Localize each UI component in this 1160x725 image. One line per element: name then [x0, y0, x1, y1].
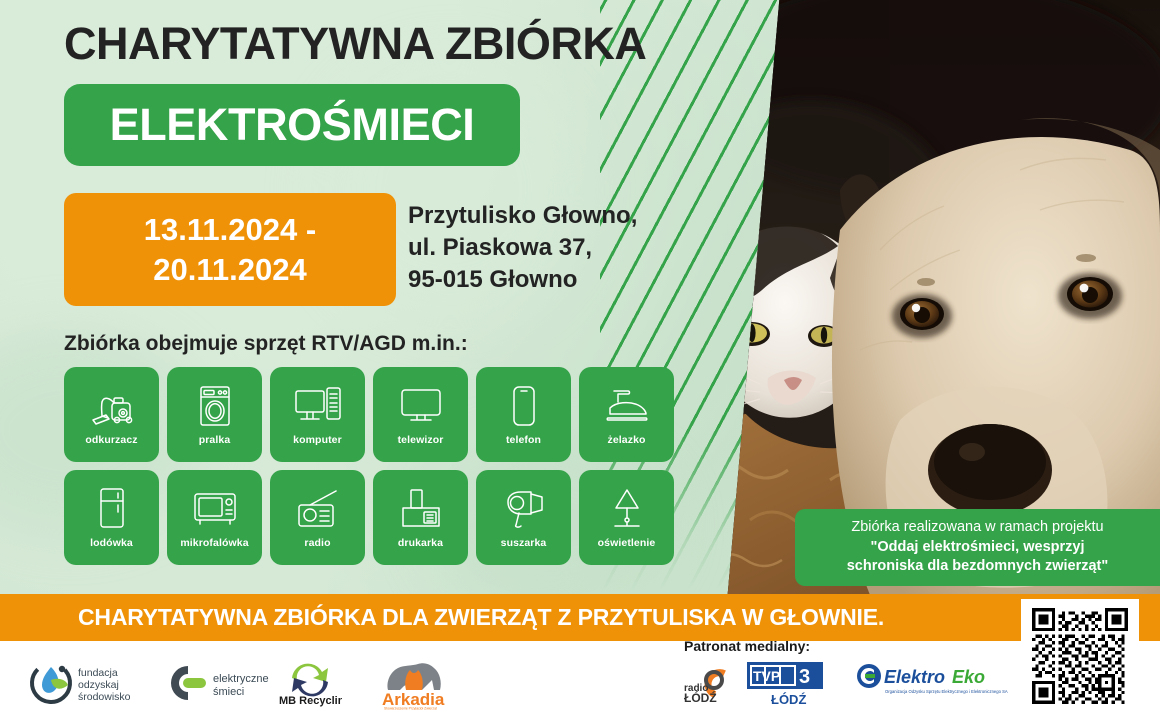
- bottom-banner: CHARYTATYWNA ZBIÓRKA DLA ZWIERZĄT Z PRZY…: [0, 594, 1160, 641]
- date-range-box: 13.11.2024 - 20.11.2024: [64, 193, 396, 306]
- equipment-label: odkurzacz: [85, 434, 137, 446]
- svg-text:Stowarzyszenie Przyjaciół Zwie: Stowarzyszenie Przyjaciół Zwierząt: [384, 707, 437, 711]
- equipment-label: mikrofalówka: [180, 537, 248, 549]
- patronat-medialny-label: Patronat medialny:: [684, 638, 810, 654]
- equipment-label: komputer: [293, 434, 342, 446]
- equipment-label: pralka: [199, 434, 231, 446]
- elektryczne-smieci-logo: elektryczne śmieci: [157, 660, 277, 706]
- project-note-line-3: schroniska dla bezdomnych zwierząt": [805, 557, 1150, 577]
- equipment-tile-lodowka: lodówka: [64, 470, 159, 565]
- svg-text:3: 3: [799, 666, 810, 688]
- washing-machine-icon: [197, 383, 233, 429]
- equipment-tile-suszarka: suszarka: [476, 470, 571, 565]
- svg-text:fundacja: fundacja: [78, 667, 118, 679]
- equipment-grid: odkurzacz pralka: [64, 367, 674, 565]
- vacuum-cleaner-icon: [90, 383, 134, 429]
- hairdryer-icon: [502, 486, 546, 532]
- radio-icon: [296, 486, 340, 532]
- equipment-subtitle: Zbiórka obejmuje sprzęt RTV/AGD m.in.:: [64, 332, 468, 356]
- elektroeko-logo: Elektro Eko Organizacja Odzysku Sprzętu …: [856, 662, 1016, 698]
- svg-text:elektryczne: elektryczne: [213, 673, 269, 685]
- radio-lodz-logo: radio ŁÓDŹ: [684, 663, 746, 705]
- bottom-banner-text: CHARYTATYWNA ZBIÓRKA DLA ZWIERZĄT Z PRZY…: [78, 604, 884, 631]
- equipment-tile-oswietlenie: oświetlenie: [579, 470, 674, 565]
- equipment-tile-pralka: pralka: [167, 367, 262, 462]
- fridge-icon: [98, 486, 126, 532]
- address-line-1: Przytulisko Głowno,: [408, 200, 637, 232]
- date-range-line-1: 13.11.2024 -: [144, 210, 316, 250]
- svg-text:odzyskaj: odzyskaj: [78, 679, 119, 691]
- microwave-icon: [192, 486, 238, 532]
- date-range-line-2: 20.11.2024: [153, 250, 306, 290]
- page-title: CHARYTATYWNA ZBIÓRKA: [64, 18, 646, 70]
- equipment-label: telewizor: [398, 434, 444, 446]
- lamp-icon: [607, 486, 647, 532]
- svg-text:śmieci: śmieci: [213, 686, 244, 698]
- arkadia-logo: Arkadia Stowarzyszenie Przyjaciół Zwierz…: [370, 656, 462, 710]
- headline-highlight-box: ELEKTROŚMIECI: [64, 84, 520, 166]
- printer-icon: [400, 486, 442, 532]
- equipment-tile-radio: radio: [270, 470, 365, 565]
- fundacja-odzyskaj-srodowisko-logo: fundacja odzyskaj środowisko: [26, 658, 144, 708]
- project-note-line-2: "Oddaj elektrośmieci, wesprzyj: [805, 538, 1150, 558]
- project-note-line-1: Zbiórka realizowana w ramach projektu: [805, 518, 1150, 538]
- computer-icon: [294, 383, 342, 429]
- address-line-3: 95-015 Głowno: [408, 264, 637, 296]
- equipment-label: lodówka: [90, 537, 133, 549]
- iron-icon: [605, 383, 649, 429]
- equipment-tile-zelazko: żelazko: [579, 367, 674, 462]
- equipment-label: radio: [304, 537, 330, 549]
- project-note: Zbiórka realizowana w ramach projektu "O…: [795, 509, 1160, 586]
- equipment-tile-komputer: komputer: [270, 367, 365, 462]
- equipment-label: drukarka: [398, 537, 443, 549]
- tvp3-lodz-logo: TVP 3 ŁÓDŹ: [745, 660, 827, 708]
- equipment-tile-telefon: telefon: [476, 367, 571, 462]
- svg-text:TVP: TVP: [753, 668, 780, 684]
- svg-text:Elektro: Elektro: [884, 667, 945, 687]
- svg-text:środowisko: środowisko: [78, 691, 131, 703]
- equipment-label: żelazko: [607, 434, 645, 446]
- svg-text:Eko: Eko: [952, 667, 985, 687]
- equipment-label: suszarka: [501, 537, 547, 549]
- svg-text:ŁÓDŹ: ŁÓDŹ: [684, 690, 717, 705]
- address-line-2: ul. Piaskowa 37,: [408, 232, 637, 264]
- address-block: Przytulisko Głowno, ul. Piaskowa 37, 95-…: [408, 200, 637, 296]
- qr-code[interactable]: [1021, 599, 1139, 712]
- poster: CHARYTATYWNA ZBIÓRKA ELEKTROŚMIECI 13.11…: [0, 0, 1160, 725]
- equipment-tile-drukarka: drukarka: [373, 470, 468, 565]
- equipment-tile-odkurzacz: odkurzacz: [64, 367, 159, 462]
- mb-recycling-logo: MB Recycling: [278, 656, 342, 708]
- equipment-tile-telewizor: telewizor: [373, 367, 468, 462]
- svg-text:ŁÓDŹ: ŁÓDŹ: [771, 692, 806, 707]
- headline-highlight-text: ELEKTROŚMIECI: [110, 99, 475, 151]
- phone-icon: [511, 383, 537, 429]
- equipment-label: telefon: [506, 434, 541, 446]
- television-icon: [399, 383, 443, 429]
- equipment-label: oświetlenie: [598, 537, 656, 549]
- equipment-tile-mikrofalowka: mikrofalówka: [167, 470, 262, 565]
- svg-text:MB Recycling: MB Recycling: [279, 695, 342, 707]
- svg-text:Organizacja Odzysku Sprzętu El: Organizacja Odzysku Sprzętu Elektryczneg…: [885, 689, 1008, 694]
